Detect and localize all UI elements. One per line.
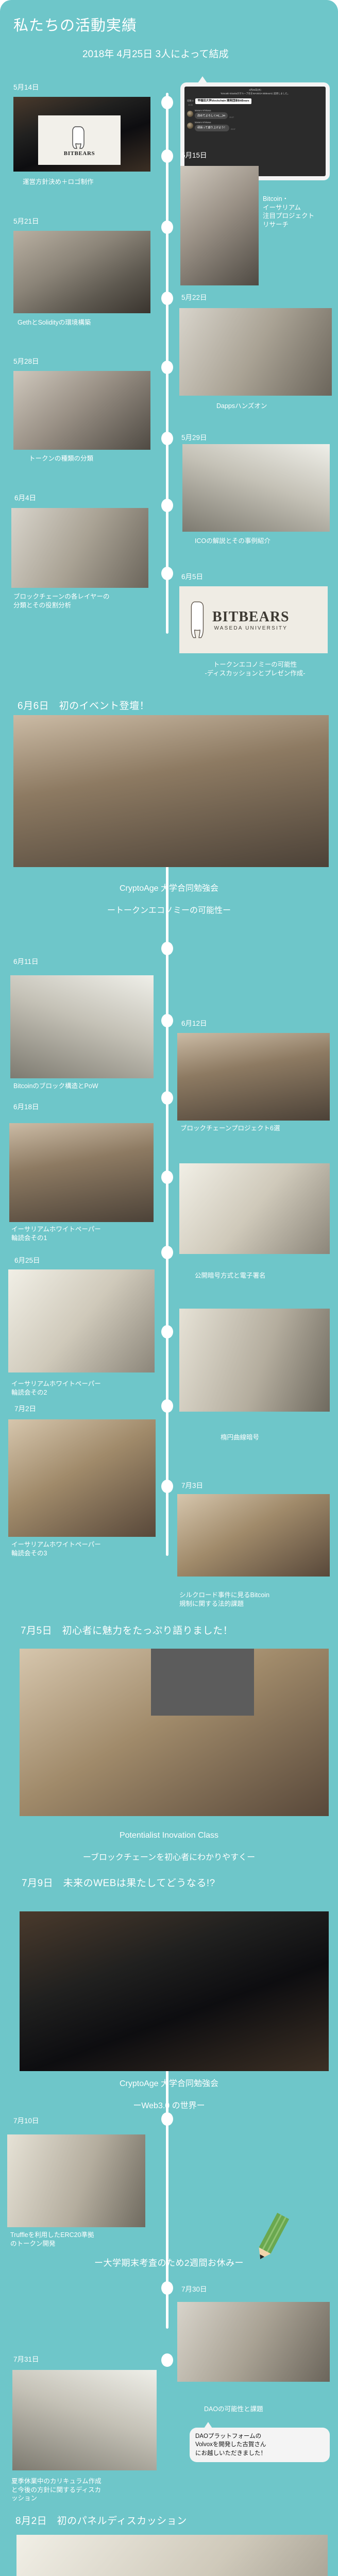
- event-photo: [13, 231, 150, 313]
- event-caption: 夏季休業中のカリキュラム作成 と今後の方針に関するディスカ ッション: [11, 2477, 166, 2503]
- event-photo: [16, 2535, 328, 2576]
- section-banner: 7月9日 未来のWEBは果たしてどうなる!?: [0, 1875, 338, 1889]
- event-caption: 公開暗号方式と電子署名: [195, 1272, 329, 1280]
- event-photo: [179, 308, 332, 396]
- event-caption: ブロックチェーンの各レイヤーの 分類とその役割分析: [13, 592, 163, 609]
- date-label: 5月14日: [13, 81, 39, 92]
- event-photo: [13, 371, 150, 450]
- timeline-node: [161, 96, 173, 109]
- event-photo: [12, 2370, 157, 2470]
- event-photo: [9, 1123, 154, 1222]
- timeline-node: [161, 499, 173, 512]
- section-banner: 7月5日 初心者に魅力をたっぷり語りました！: [0, 1623, 338, 1637]
- date-label: 6月18日: [13, 1101, 39, 1111]
- timeline-node: [161, 1014, 173, 1027]
- event-photo: BITBEARS: [13, 97, 150, 172]
- date-label: 5月15日: [181, 149, 207, 160]
- event-caption: シルクロード事件に見るBitcoin 規制に関する法的課題: [179, 1591, 334, 1608]
- timeline-node: [161, 1325, 173, 1338]
- event-caption: ブロックチェーンプロジェクト6選: [180, 1124, 335, 1133]
- event-caption: DAOの可能性と課題: [204, 2405, 328, 2414]
- event-photo: [20, 1911, 329, 2071]
- event-caption: Dappsハンズオン: [216, 402, 319, 411]
- date-label: 6月11日: [13, 956, 39, 966]
- date-label: 5月29日: [181, 432, 207, 442]
- date-label: 5月21日: [13, 215, 39, 226]
- event-photo: [180, 166, 259, 285]
- logo-university-text: WASEDA UNIVERSITY: [212, 625, 290, 631]
- event-caption: 楕円曲線暗号: [221, 1433, 324, 1442]
- event-caption: Truffleを利用したERC20準拠 のトークン開発: [10, 2231, 160, 2248]
- date-label: 7月10日: [13, 2115, 39, 2125]
- event-caption: CryptoAge 大学合同勉強会 ーWeb3.0 の世界ー: [0, 2067, 338, 2111]
- event-photo: [177, 1033, 330, 1121]
- event-photo: [179, 1309, 330, 1412]
- event-photo: [13, 715, 329, 867]
- event-photo: [11, 508, 148, 588]
- event-caption: Bitcoinのブロック構造とPoW: [13, 1082, 158, 1091]
- chat-group-label: 班数 3: [187, 99, 193, 103]
- event-caption-line2: ートークンエコノミーの可能性ー: [107, 906, 231, 915]
- date-label: 6月5日: [181, 571, 203, 581]
- date-label: 5月22日: [181, 292, 207, 302]
- timeline-node: [161, 942, 173, 955]
- section-banner: ー大学期末考査のため2週間お休みー: [0, 2256, 338, 2268]
- section-banner: 6月6日 初のイベント登壇！: [0, 698, 338, 712]
- chat-message-time: 23:37: [229, 116, 234, 120]
- avatar: [187, 123, 193, 129]
- timeline-node: [161, 1480, 173, 1493]
- event-caption: イーサリアムホワイトペーパー 輪読会その2: [11, 1380, 161, 1397]
- event-photo: [177, 2302, 330, 2382]
- timeline-node: [161, 149, 173, 163]
- event-photo: [177, 1494, 330, 1577]
- event-caption: トークンエコノミーの可能性 -ディスカッションとプレゼン作成-: [175, 660, 335, 677]
- avatar: [187, 111, 193, 117]
- timeline-node: [161, 1171, 173, 1184]
- section-banner: 8月2日 初のパネルディスカッション: [0, 2513, 338, 2527]
- polar-bear-icon: [69, 124, 90, 150]
- date-label: 5月28日: [13, 355, 39, 366]
- event-caption: Bitcoin・ イーサリアム 注目プロジェクト リサーチ: [263, 195, 335, 229]
- chat-message-row: Masaru Ishikawa 改めてよろしくm(__)m 23:37: [187, 109, 323, 120]
- event-caption-line2: ーブロックチェーンを初心者にわかりやすくー: [83, 1853, 255, 1862]
- chat-sender-name: Masaru Ishikawa: [195, 109, 211, 112]
- event-photo: BITBEARS WASEDA UNIVERSITY: [179, 586, 328, 653]
- event-photo: [182, 444, 330, 532]
- timeline-node: [161, 1399, 173, 1413]
- chat-group-name: 早稲田大学blockchain 開発団体BitBears: [195, 98, 251, 104]
- event-photo: [8, 1269, 155, 1372]
- chat-system-date: 4月25日(水): [187, 89, 323, 92]
- timeline-node: [161, 361, 173, 374]
- activity-timeline-infographic: 私たちの活動実績 2018年 4月25日 3人によって結成 4月25日(水) T…: [0, 0, 338, 2576]
- timeline-node: [161, 2112, 173, 2126]
- page-title: 私たちの活動実績: [13, 13, 137, 35]
- event-photo: [10, 975, 154, 1078]
- event-photo: [179, 1163, 330, 1254]
- event-caption: イーサリアムホワイトペーパー 輪読会その3: [11, 1540, 161, 1557]
- line-chat-screenshot: 4月25日(水) Tomoaki Kitaokaがグループ名をWASEDA Bi…: [184, 87, 326, 176]
- logo-brand-text: BITBEARS: [212, 609, 290, 625]
- timeline-node: [161, 2353, 173, 2367]
- date-label: 7月3日: [181, 1480, 203, 1490]
- chat-message-row: Masaru Ishikawa 頑張って盛り上げよう！ 23:37: [187, 121, 323, 131]
- event-caption: Potentialist Inovation Class ーブロックチェーンを初…: [0, 1819, 338, 1863]
- date-label: 6月12日: [181, 1018, 207, 1028]
- chat-message-text: 頑張って盛り上げよう！: [195, 125, 229, 131]
- event-caption-line1: CryptoAge 大学合同勉強会: [120, 884, 218, 893]
- timeline-node: [161, 2281, 173, 2295]
- event-photo: [7, 2134, 145, 2227]
- logo-brand-text: BITBEARS: [64, 150, 95, 157]
- event-caption: GethとSolidityの環境構築: [18, 318, 157, 327]
- event-photo: [20, 1649, 329, 1816]
- polar-bear-icon: [188, 599, 209, 641]
- event-caption: CryptoAge 大学合同勉強会 ートークンエコノミーの可能性ー: [0, 872, 338, 916]
- page-subtitle: 2018年 4月25日 3人によって結成: [82, 46, 229, 60]
- chat-group-time: 23:35: [188, 104, 323, 107]
- event-caption-line1: Potentialist Inovation Class: [120, 1831, 218, 1840]
- timeline-node: [161, 1091, 173, 1105]
- chat-message-text: 改めてよろしくm(__)m: [195, 112, 228, 119]
- timeline-node: [161, 292, 173, 305]
- timeline-node: [161, 221, 173, 234]
- event-photo: [8, 1419, 156, 1537]
- timeline-node: [161, 567, 173, 580]
- timeline-node: [161, 1246, 173, 1259]
- timeline-node: [161, 432, 173, 445]
- chat-message-time: 23:37: [231, 128, 235, 131]
- event-caption: トークンの種類の分類: [29, 454, 153, 463]
- event-caption: ICOの解説とその事例紹介: [195, 537, 324, 546]
- date-label: 6月4日: [14, 492, 36, 502]
- date-label: 6月25日: [14, 1255, 40, 1265]
- event-caption: 運営方針決め＋ロゴ制作: [23, 178, 151, 187]
- chat-sender-name: Masaru Ishikawa: [195, 121, 211, 124]
- date-label: 7月30日: [181, 2283, 207, 2294]
- speaker-note-bubble: DAOプラットフォームの Volvoxを開発した古賀さん にお越しいただきました…: [190, 2428, 330, 2462]
- chat-system-message: Tomoaki Kitaokaがグループ名をWASEDA BitBearsに変更…: [187, 92, 323, 96]
- event-caption-line2: ーWeb3.0 の世界ー: [133, 2102, 205, 2110]
- event-caption-line1: CryptoAge 大学合同勉強会: [120, 2079, 218, 2088]
- event-caption: イーサリアムホワイトペーパー 輪読会その1: [11, 1225, 161, 1242]
- date-label: 7月31日: [13, 2353, 39, 2364]
- date-label: 7月2日: [14, 1403, 36, 1413]
